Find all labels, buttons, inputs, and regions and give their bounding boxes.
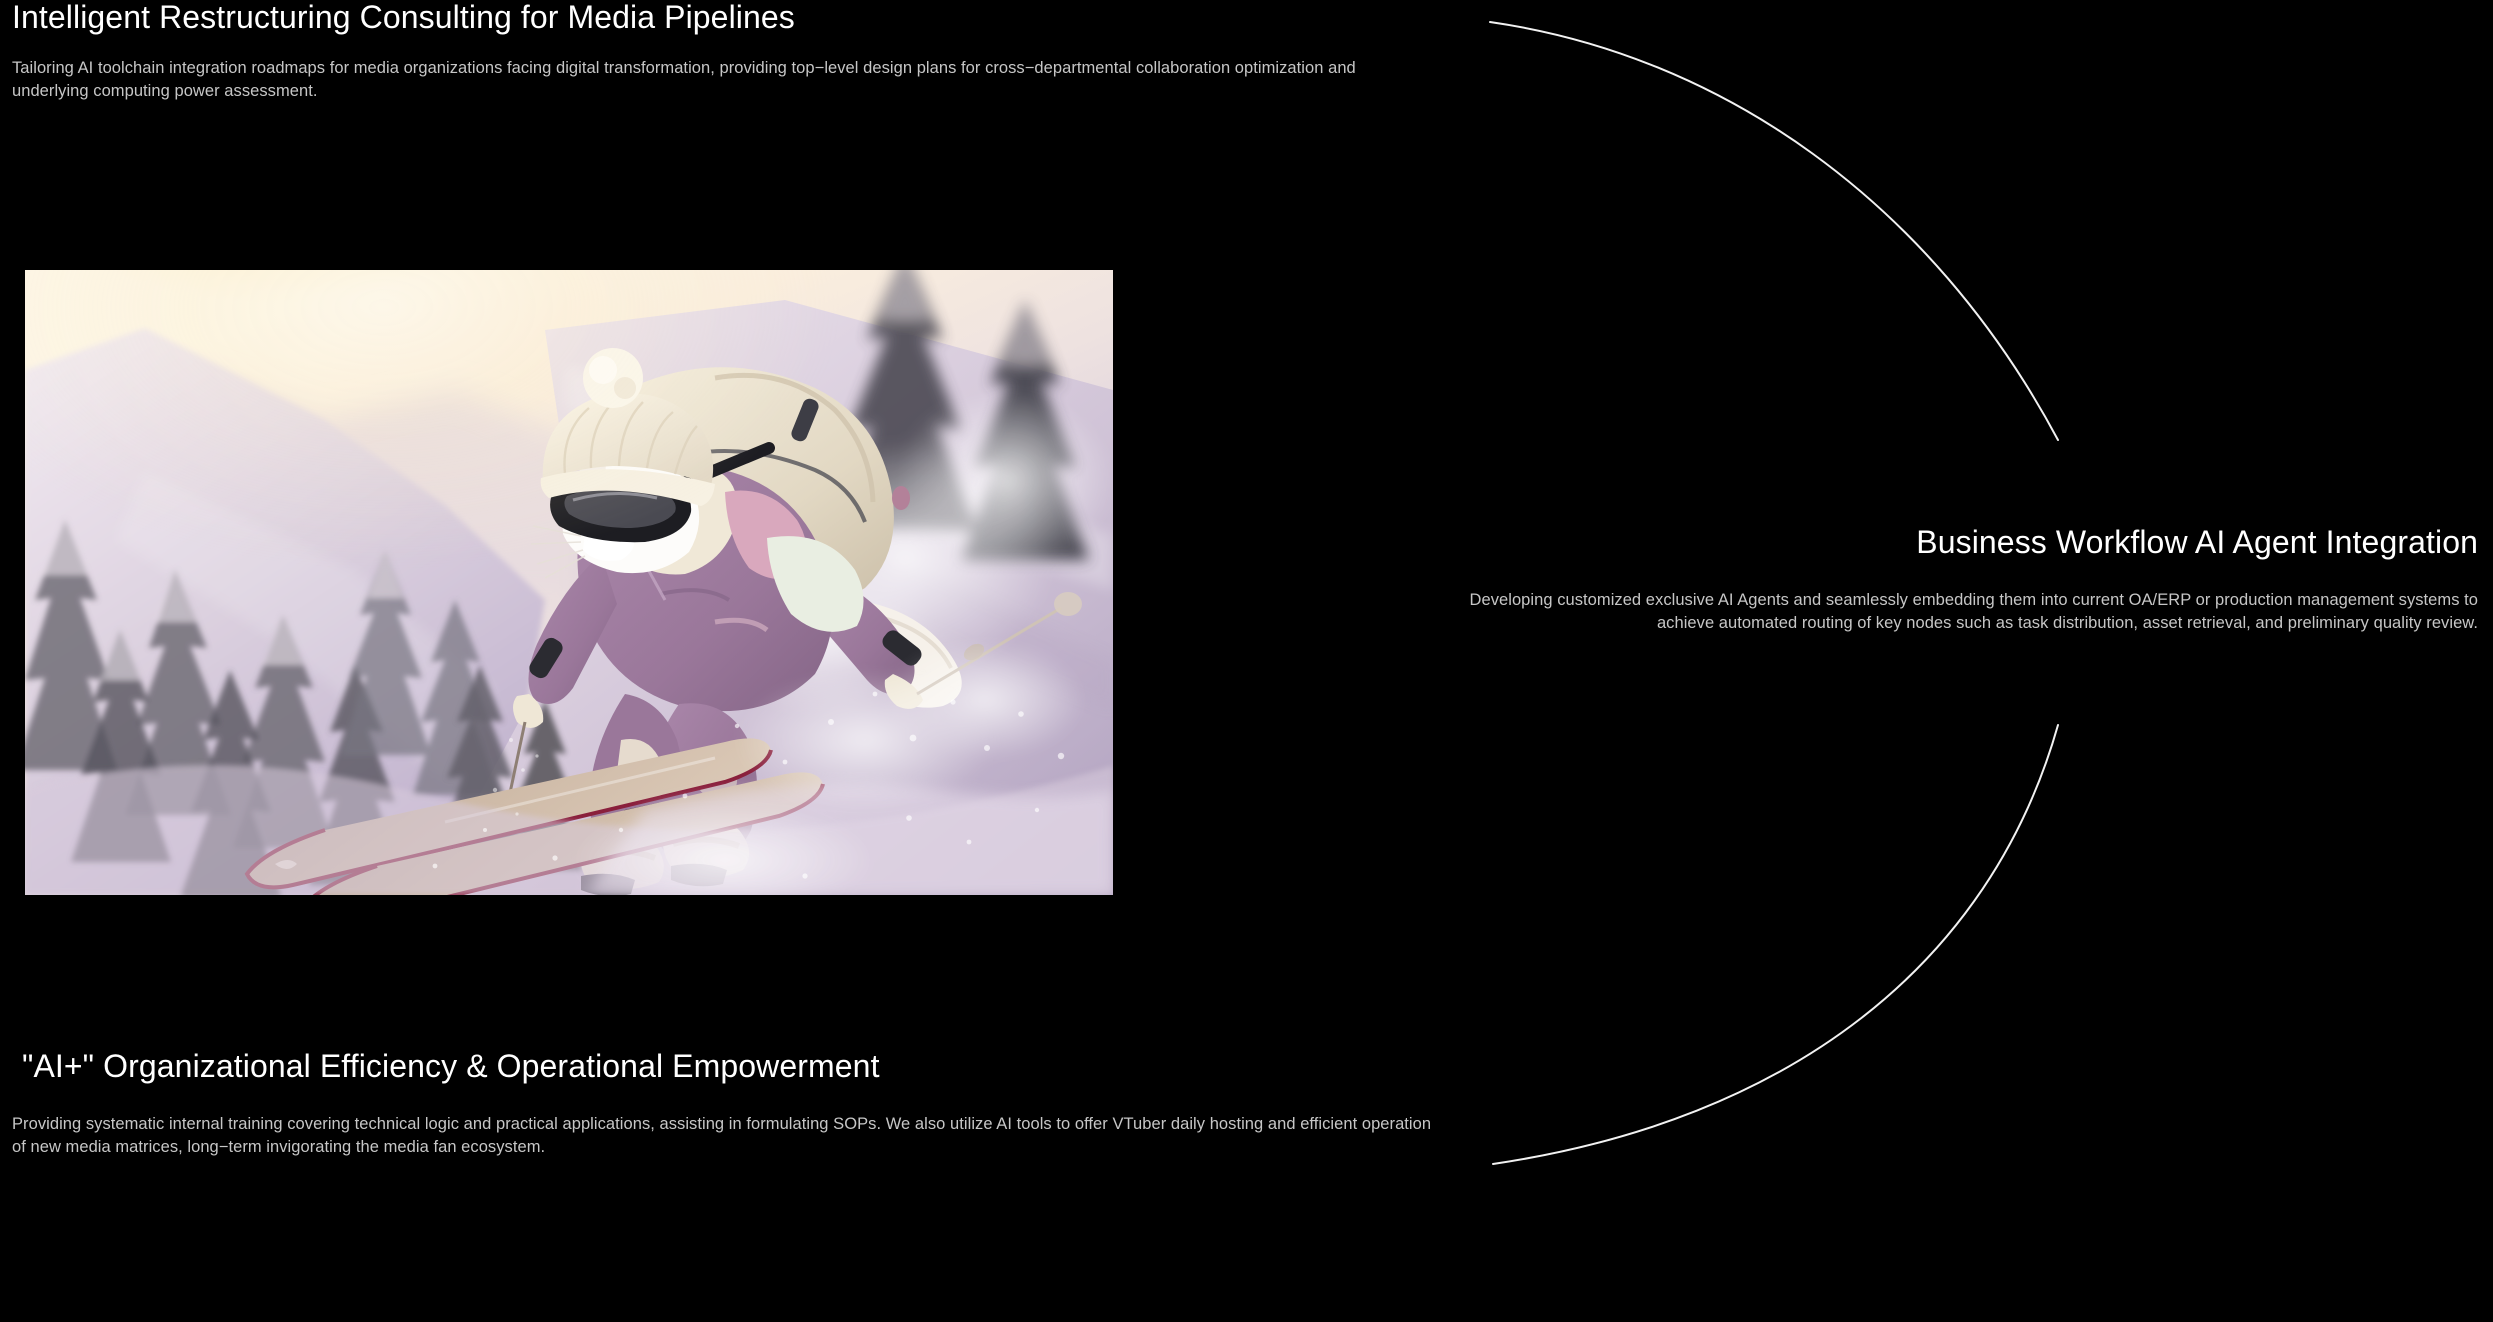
arc-segment-upper	[1490, 22, 2058, 440]
section-heading: Business Workflow AI Agent Integration	[1248, 522, 2478, 563]
section-intelligent-restructuring: Intelligent Restructuring Consulting for…	[12, 0, 1452, 103]
section-heading: "AI+" Organizational Efficiency & Operat…	[22, 1046, 1472, 1087]
section-heading: Intelligent Restructuring Consulting for…	[12, 0, 1452, 38]
section-body: Developing customized exclusive AI Agent…	[1458, 589, 2478, 635]
section-workflow-agent: Business Workflow AI Agent Integration D…	[1248, 522, 2478, 635]
arc-segment-lower	[1493, 725, 2058, 1164]
section-body: Providing systematic internal training c…	[12, 1113, 1432, 1159]
section-body: Tailoring AI toolchain integration roadm…	[12, 57, 1422, 103]
section-ai-plus: "AI+" Organizational Efficiency & Operat…	[12, 1046, 1472, 1159]
ski-photo-illustration	[25, 270, 1113, 895]
ski-photo	[25, 270, 1113, 895]
